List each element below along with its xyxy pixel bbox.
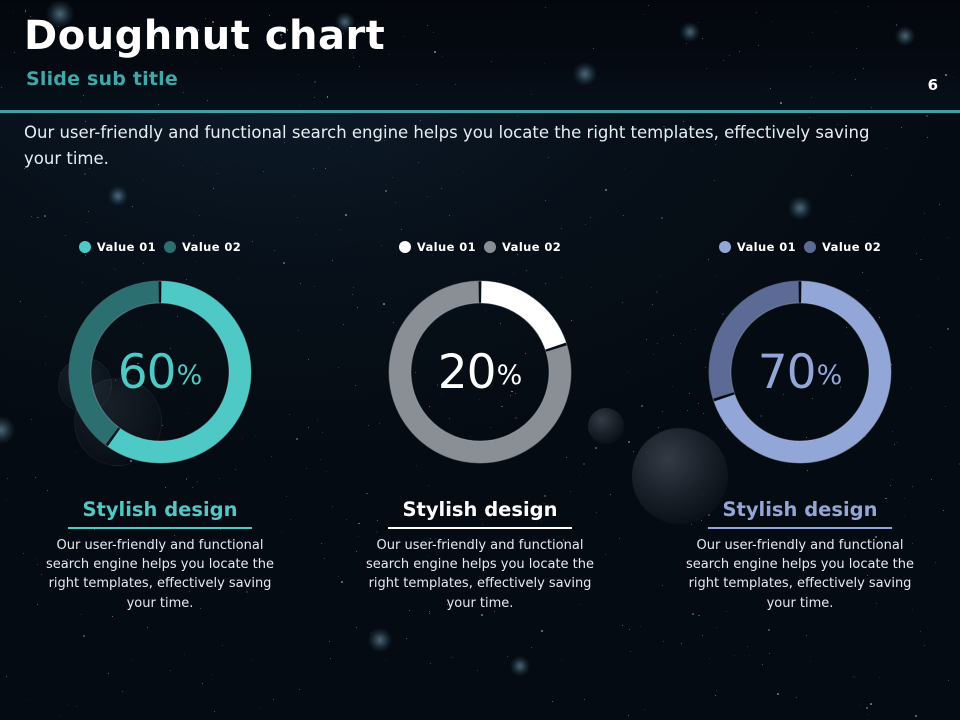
caption-body: Our user-friendly and functional search …: [35, 536, 285, 613]
doughnut-card: Value 01Value 0260%Stylish designOur use…: [0, 236, 320, 613]
doughnut-chart: 20%: [376, 268, 584, 476]
legend-label: Value 02: [822, 240, 881, 254]
legend-item[interactable]: Value 01: [719, 240, 796, 254]
doughnut-card: Value 01Value 0220%Stylish designOur use…: [320, 236, 640, 613]
page-subtitle: Slide sub title: [26, 68, 178, 90]
legend-item[interactable]: Value 02: [804, 240, 881, 254]
lead-paragraph: Our user-friendly and functional search …: [24, 120, 908, 171]
legend-swatch-icon: [399, 241, 411, 253]
doughnut-percent-number: 60: [118, 349, 176, 396]
legend-item[interactable]: Value 01: [399, 240, 476, 254]
chart-legend: Value 01Value 02: [399, 236, 561, 258]
legend-swatch-icon: [719, 241, 731, 253]
caption-body: Our user-friendly and functional search …: [355, 536, 605, 613]
page-number: 6: [928, 76, 938, 94]
doughnut-percent-number: 20: [438, 349, 496, 396]
legend-item[interactable]: Value 01: [79, 240, 156, 254]
caption-body: Our user-friendly and functional search …: [675, 536, 925, 613]
star-glow: [108, 186, 128, 206]
legend-swatch-icon: [484, 241, 496, 253]
chart-caption: Stylish designOur user-friendly and func…: [35, 498, 285, 613]
percent-sign: %: [177, 362, 203, 389]
star-glow: [368, 628, 392, 652]
page-title: Doughnut chart: [24, 14, 385, 58]
chart-legend: Value 01Value 02: [79, 236, 241, 258]
percent-sign: %: [497, 362, 523, 389]
caption-title: Stylish design: [722, 498, 877, 527]
star-glow: [510, 656, 530, 676]
percent-sign: %: [817, 362, 843, 389]
doughnut-center-value: 70%: [696, 268, 904, 476]
legend-swatch-icon: [164, 241, 176, 253]
legend-label: Value 02: [182, 240, 241, 254]
chart-caption: Stylish designOur user-friendly and func…: [675, 498, 925, 613]
chart-caption: Stylish designOur user-friendly and func…: [355, 498, 605, 613]
caption-divider: [388, 527, 572, 529]
header-divider: [0, 110, 960, 113]
legend-swatch-icon: [79, 241, 91, 253]
caption-divider: [68, 527, 252, 529]
legend-item[interactable]: Value 02: [484, 240, 561, 254]
doughnut-chart: 70%: [696, 268, 904, 476]
caption-divider: [708, 527, 892, 529]
doughnut-center-value: 20%: [376, 268, 584, 476]
legend-label: Value 01: [737, 240, 796, 254]
caption-title: Stylish design: [82, 498, 237, 527]
slide: Doughnut chart Slide sub title 6 Our use…: [0, 0, 960, 720]
doughnut-chart-row: Value 01Value 0260%Stylish designOur use…: [0, 236, 960, 613]
legend-swatch-icon: [804, 241, 816, 253]
chart-legend: Value 01Value 02: [719, 236, 881, 258]
caption-title: Stylish design: [402, 498, 557, 527]
legend-label: Value 02: [502, 240, 561, 254]
doughnut-center-value: 60%: [56, 268, 264, 476]
star-glow: [788, 196, 812, 220]
slide-header: Doughnut chart Slide sub title 6: [0, 0, 960, 112]
legend-item[interactable]: Value 02: [164, 240, 241, 254]
doughnut-card: Value 01Value 0270%Stylish designOur use…: [640, 236, 960, 613]
doughnut-percent-number: 70: [758, 349, 816, 396]
doughnut-chart: 60%: [56, 268, 264, 476]
legend-label: Value 01: [417, 240, 476, 254]
legend-label: Value 01: [97, 240, 156, 254]
